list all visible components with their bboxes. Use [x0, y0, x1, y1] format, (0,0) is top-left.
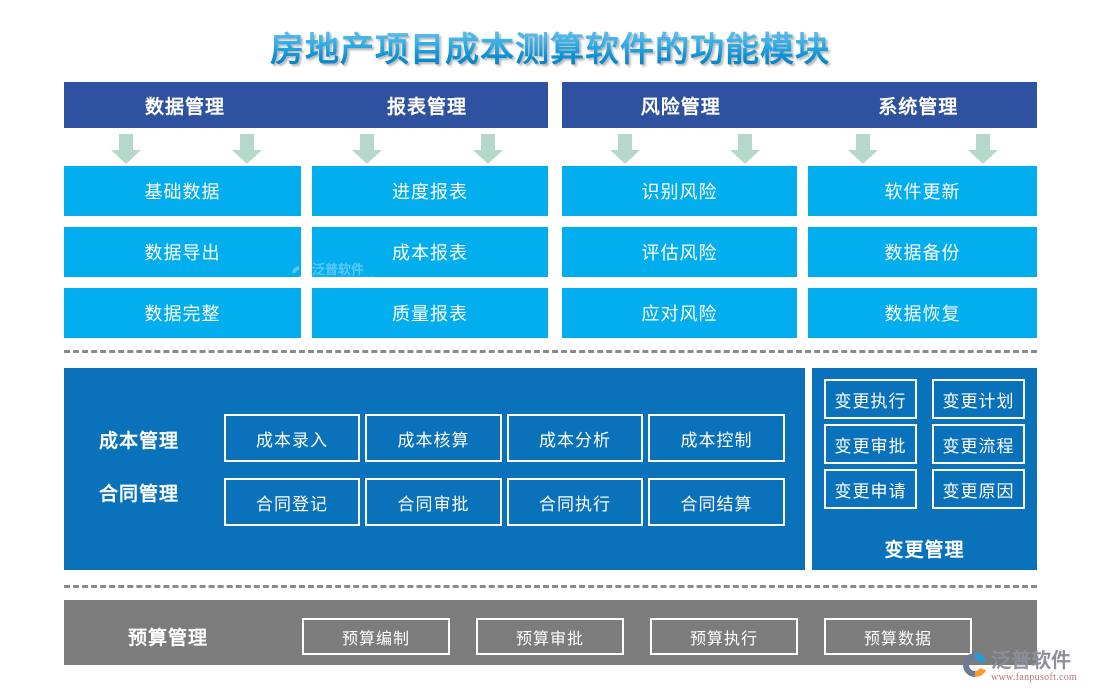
- change-box-bianggengjihua[interactable]: 变更计划: [932, 379, 1025, 419]
- module-box-chengbenbaobiao[interactable]: 成本报表: [312, 227, 548, 277]
- budget-box-yusuanzhixing[interactable]: 预算执行: [650, 618, 798, 655]
- change-box-bianggengliucheng[interactable]: 变更流程: [932, 424, 1025, 464]
- down-arrow-icon: [607, 134, 643, 164]
- module-box-jindubaobiao[interactable]: 进度报表: [312, 166, 548, 216]
- contract-box-hetongshenpi[interactable]: 合同审批: [365, 478, 502, 526]
- section-divider: [64, 350, 1037, 353]
- down-arrow-icon: [727, 134, 763, 164]
- column-header-system-management[interactable]: 系统管理: [800, 92, 1038, 119]
- module-box-jichushuju[interactable]: 基础数据: [64, 166, 301, 216]
- module-box-ruanjiangengxin[interactable]: 软件更新: [808, 166, 1037, 216]
- contract-box-hetongzhixing[interactable]: 合同执行: [507, 478, 643, 526]
- cost-box-chengbenfenxi[interactable]: 成本分析: [507, 414, 643, 462]
- cost-box-chengbenhesuan[interactable]: 成本核算: [365, 414, 502, 462]
- group-label-contract-management: 合同管理: [99, 479, 179, 506]
- cost-box-chengbenluru[interactable]: 成本录入: [224, 414, 360, 462]
- down-arrow-icon: [108, 134, 144, 164]
- header-bar-left: 数据管理 报表管理: [64, 82, 548, 128]
- contract-box-hetongdengji[interactable]: 合同登记: [224, 478, 360, 526]
- fanpu-logo-icon: [962, 652, 988, 678]
- group-label-budget-management: 预算管理: [128, 623, 208, 650]
- budget-box-yusuanshenpi[interactable]: 预算审批: [476, 618, 624, 655]
- group-label-cost-management: 成本管理: [99, 426, 179, 453]
- column-header-report-management[interactable]: 报表管理: [306, 92, 548, 119]
- budget-box-yusuanshuju[interactable]: 预算数据: [824, 618, 972, 655]
- column-header-data-management[interactable]: 数据管理: [64, 92, 306, 119]
- change-box-bianggengyuanyin[interactable]: 变更原因: [932, 469, 1025, 509]
- module-box-yingduifengxian[interactable]: 应对风险: [562, 288, 797, 338]
- diagram-canvas: 房地产项目成本测算软件的功能模块 数据管理 报表管理 风险管理 系统管理 基础数…: [0, 0, 1100, 700]
- brand-url: www.fanpusoft.com: [991, 672, 1077, 684]
- module-box-shujudaochu[interactable]: 数据导出: [64, 227, 301, 277]
- contract-box-hetongjiesuan[interactable]: 合同结算: [648, 478, 785, 526]
- change-box-biangengzhixing[interactable]: 变更执行: [824, 379, 917, 419]
- module-box-shibiefengxian[interactable]: 识别风险: [562, 166, 797, 216]
- header-bar-right: 风险管理 系统管理: [562, 82, 1037, 128]
- section-divider: [64, 585, 1037, 588]
- brand-logo: 泛普软件 www.fanpusoft.com: [962, 650, 1098, 694]
- down-arrow-icon: [470, 134, 506, 164]
- down-arrow-icon: [845, 134, 881, 164]
- down-arrow-icon: [229, 134, 265, 164]
- down-arrow-icon: [965, 134, 1001, 164]
- cost-contract-panel: [64, 368, 805, 570]
- brand-name: 泛普软件: [991, 650, 1077, 672]
- module-box-shujuhuifu[interactable]: 数据恢复: [808, 288, 1037, 338]
- change-management-title: 变更管理: [812, 527, 1037, 570]
- change-box-biangengshenpi[interactable]: 变更审批: [824, 424, 917, 464]
- cost-box-chengbenkongzhi[interactable]: 成本控制: [648, 414, 785, 462]
- budget-box-yusuanbianzhi[interactable]: 预算编制: [302, 618, 450, 655]
- module-box-shujuwanzheng[interactable]: 数据完整: [64, 288, 301, 338]
- page-title: 房地产项目成本测算软件的功能模块: [0, 22, 1100, 71]
- down-arrow-icon: [349, 134, 385, 164]
- module-box-shujubeifen[interactable]: 数据备份: [808, 227, 1037, 277]
- watermark-subtitle: FANPU SOFTWARE: [312, 277, 374, 283]
- module-box-zhilianbaobiao[interactable]: 质量报表: [312, 288, 548, 338]
- change-box-biangengshenqing[interactable]: 变更申请: [824, 469, 917, 509]
- module-box-pinggufengxian[interactable]: 评估风险: [562, 227, 797, 277]
- column-header-risk-management[interactable]: 风险管理: [562, 92, 800, 119]
